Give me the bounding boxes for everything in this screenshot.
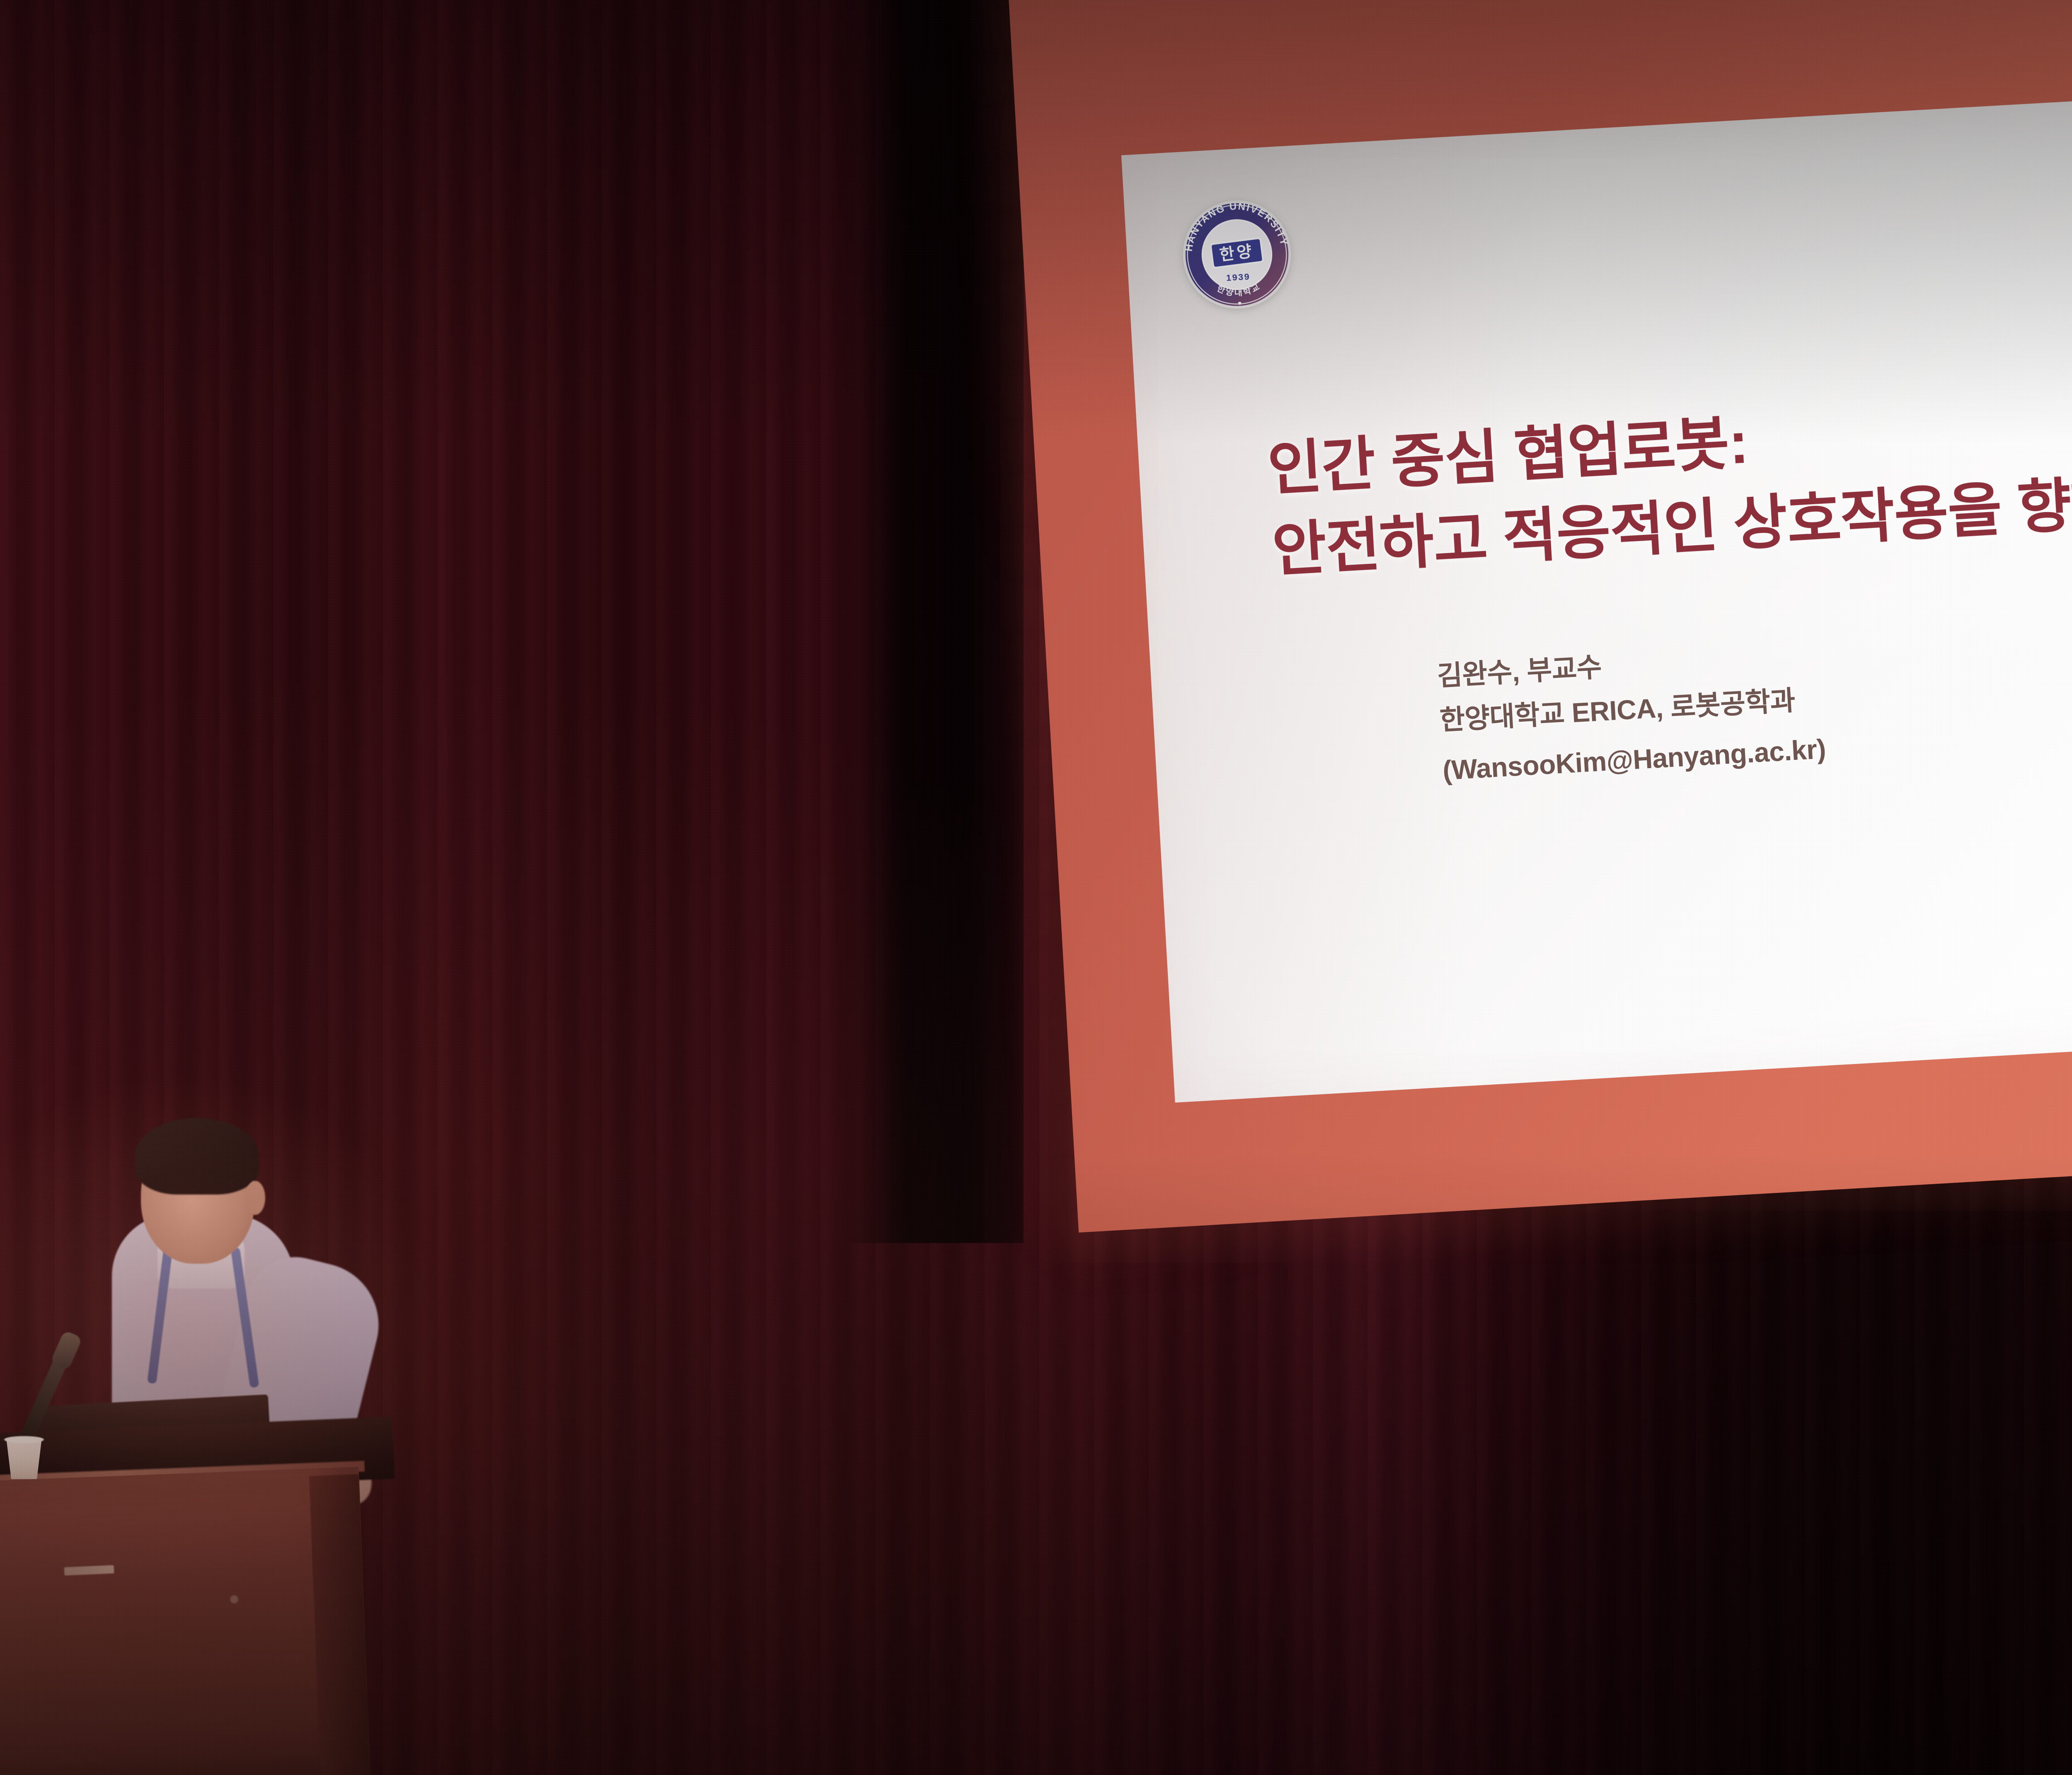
presentation-photo: HANYANG UNIVERSITY 한양대학교 한양 1939 인간 [0, 0, 2072, 1775]
photo-vignette [0, 0, 2072, 1775]
